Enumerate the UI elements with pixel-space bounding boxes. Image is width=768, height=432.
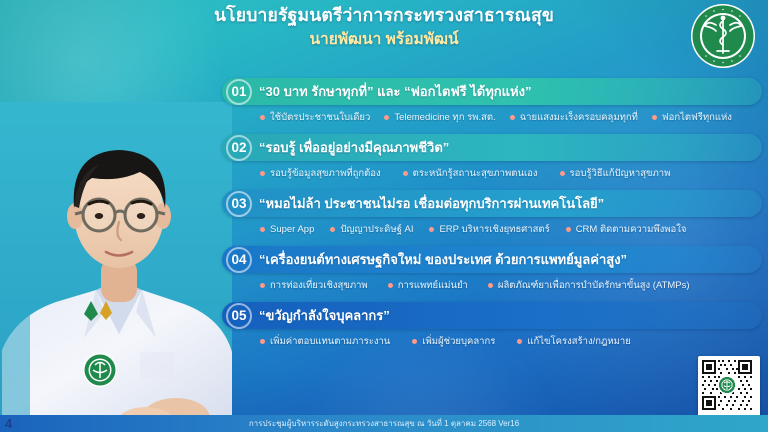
policy-item-01[interactable]: 01 “30 บาท รักษาทุกที่” และ “ฟอกไตฟรี ได… xyxy=(222,78,768,127)
bullet-dot-icon xyxy=(652,115,657,120)
policy-pill-05[interactable]: 05 “ขวัญกำลังใจบุคลากร” xyxy=(222,302,762,329)
subitem-label: CRM ติดตามความพึงพอใจ xyxy=(576,222,687,237)
page-number: 4 xyxy=(5,416,12,431)
footer-bar: การประชุมผู้บริหารระดับสูงกระทรวงสาธารณส… xyxy=(0,415,768,432)
list-item[interactable]: การแพทย์แม่นยำ xyxy=(388,278,468,293)
bullet-dot-icon xyxy=(412,339,417,344)
list-item[interactable]: ผลิตภัณฑ์ยาเพื่อการบำบัดรักษาขั้นสูง (AT… xyxy=(488,278,690,293)
policy-number-03: 03 xyxy=(226,191,252,217)
policy-pill-02[interactable]: 02 “รอบรู้ เพื่ออยู่อย่างมีคุณภาพชีวิต” xyxy=(222,134,762,161)
subitem-label: ERP บริหารเชิงยุทธศาสตร์ xyxy=(439,222,549,237)
list-item[interactable]: เพิ่มค่าตอบแทนตามภาระงาน xyxy=(260,334,390,349)
subitem-label: Telemedicine ทุก รพ.สต. xyxy=(394,110,495,125)
page-title: นโยบายรัฐมนตรีว่าการกระทรวงสาธารณสุข xyxy=(0,4,768,28)
slide-canvas: นโยบายรัฐมนตรีว่าการกระทรวงสาธารณสุข นาย… xyxy=(0,0,768,432)
subitem-label: ผลิตภัณฑ์ยาเพื่อการบำบัดรักษาขั้นสูง (AT… xyxy=(498,278,690,293)
subitem-label: รอบรู้ข้อมูลสุขภาพที่ถูกต้อง xyxy=(270,166,381,181)
list-item[interactable]: Telemedicine ทุก รพ.สต. xyxy=(384,110,495,125)
policy-number-01: 01 xyxy=(226,79,252,105)
subitem-label: เพิ่มค่าตอบแทนตามภาระงาน xyxy=(270,334,390,349)
bullet-dot-icon xyxy=(260,227,265,232)
policy-number-05: 05 xyxy=(226,303,252,329)
bullet-dot-icon xyxy=(566,227,571,232)
list-item[interactable]: ฟอกไตฟรีทุกแห่ง xyxy=(652,110,732,125)
subitem-label: Super App xyxy=(270,224,314,235)
policy-title-03: “หมอไม่ล้า ประชาชนไม่รอ เชื่อมต่อทุกบริก… xyxy=(259,193,604,214)
subitem-label: ใช้บัตรประชาชนใบเดียว xyxy=(270,110,370,125)
subitem-label: ปัญญาประดิษฐ์ AI xyxy=(340,222,413,237)
bullet-dot-icon xyxy=(560,171,565,176)
policy-number-04: 04 xyxy=(226,247,252,273)
bullet-dot-icon xyxy=(384,115,389,120)
subitem-label: การท่องเที่ยวเชิงสุขภาพ xyxy=(270,278,368,293)
list-item[interactable]: ตระหนักรู้สถานะสุขภาพตนเอง xyxy=(403,166,538,181)
list-item[interactable]: Super App xyxy=(260,224,314,235)
bullet-dot-icon xyxy=(488,283,493,288)
policy-title-02: “รอบรู้ เพื่ออยู่อย่างมีคุณภาพชีวิต” xyxy=(259,137,449,158)
list-item[interactable]: ปัญญาประดิษฐ์ AI xyxy=(330,222,413,237)
policy-title-05: “ขวัญกำลังใจบุคลากร” xyxy=(259,305,390,326)
bullet-dot-icon xyxy=(260,115,265,120)
bullet-dot-icon xyxy=(517,339,522,344)
subitem-label: ฉายแสงมะเร็งครอบคลุมทุกที่ xyxy=(520,110,638,125)
subitem-label: แก้ไขโครงสร้าง/กฎหมาย xyxy=(527,334,630,349)
subitem-label: รอบรู้วิธีแก้ปัญหาสุขภาพ xyxy=(570,166,671,181)
policy-list: 01 “30 บาท รักษาทุกที่” และ “ฟอกไตฟรี ได… xyxy=(222,78,768,358)
header: นโยบายรัฐมนตรีว่าการกระทรวงสาธารณสุข นาย… xyxy=(0,4,768,51)
policy-subitems-01: ใช้บัตรประชาชนใบเดียว Telemedicine ทุก ร… xyxy=(222,105,768,127)
policy-number-02: 02 xyxy=(226,135,252,161)
bullet-dot-icon xyxy=(403,171,408,176)
minister-portrait xyxy=(0,102,232,432)
policy-title-01: “30 บาท รักษาทุกที่” และ “ฟอกไตฟรี ได้ทุ… xyxy=(259,81,531,102)
policy-item-03[interactable]: 03 “หมอไม่ล้า ประชาชนไม่รอ เชื่อมต่อทุกบ… xyxy=(222,190,768,239)
footer-caption: การประชุมผู้บริหารระดับสูงกระทรวงสาธารณส… xyxy=(0,415,768,432)
bullet-dot-icon xyxy=(330,227,335,232)
policy-item-05[interactable]: 05 “ขวัญกำลังใจบุคลากร” เพิ่มค่าตอบแทนตา… xyxy=(222,302,768,351)
list-item[interactable]: รอบรู้ข้อมูลสุขภาพที่ถูกต้อง xyxy=(260,166,381,181)
policy-item-02[interactable]: 02 “รอบรู้ เพื่ออยู่อย่างมีคุณภาพชีวิต” … xyxy=(222,134,768,183)
list-item[interactable]: CRM ติดตามความพึงพอใจ xyxy=(566,222,687,237)
policy-pill-01[interactable]: 01 “30 บาท รักษาทุกที่” และ “ฟอกไตฟรี ได… xyxy=(222,78,762,105)
bullet-dot-icon xyxy=(260,171,265,176)
bullet-dot-icon xyxy=(260,339,265,344)
bullet-dot-icon xyxy=(429,227,434,232)
policy-subitems-03: Super App ปัญญาประดิษฐ์ AI ERP บริหารเชิ… xyxy=(222,217,768,239)
list-item[interactable]: การท่องเที่ยวเชิงสุขภาพ xyxy=(260,278,368,293)
list-item[interactable]: เพิ่มผู้ช่วยบุคลากร xyxy=(412,334,495,349)
policy-pill-04[interactable]: 04 “เครื่องยนต์ทางเศรษฐกิจใหม่ ของประเทศ… xyxy=(222,246,762,273)
subitem-label: ตระหนักรู้สถานะสุขภาพตนเอง xyxy=(413,166,538,181)
policy-subitems-04: การท่องเที่ยวเชิงสุขภาพ การแพทย์แม่นยำ ผ… xyxy=(222,273,768,295)
list-item[interactable]: แก้ไขโครงสร้าง/กฎหมาย xyxy=(517,334,630,349)
policy-pill-03[interactable]: 03 “หมอไม่ล้า ประชาชนไม่รอ เชื่อมต่อทุกบ… xyxy=(222,190,762,217)
list-item[interactable]: รอบรู้วิธีแก้ปัญหาสุขภาพ xyxy=(560,166,671,181)
list-item[interactable]: ฉายแสงมะเร็งครอบคลุมทุกที่ xyxy=(510,110,638,125)
qr-code[interactable] xyxy=(698,356,760,418)
minister-name: นายพัฒนา พร้อมพัฒน์ xyxy=(0,30,768,51)
ministry-of-public-health-logo-icon xyxy=(690,3,756,69)
policy-item-04[interactable]: 04 “เครื่องยนต์ทางเศรษฐกิจใหม่ ของประเทศ… xyxy=(222,246,768,295)
bullet-dot-icon xyxy=(260,283,265,288)
list-item[interactable]: ERP บริหารเชิงยุทธศาสตร์ xyxy=(429,222,549,237)
subitem-label: การแพทย์แม่นยำ xyxy=(398,278,468,293)
policy-title-04: “เครื่องยนต์ทางเศรษฐกิจใหม่ ของประเทศ ด้… xyxy=(259,249,627,270)
bullet-dot-icon xyxy=(388,283,393,288)
subitem-label: ฟอกไตฟรีทุกแห่ง xyxy=(662,110,732,125)
bullet-dot-icon xyxy=(510,115,515,120)
list-item[interactable]: ใช้บัตรประชาชนใบเดียว xyxy=(260,110,370,125)
policy-subitems-02: รอบรู้ข้อมูลสุขภาพที่ถูกต้อง ตระหนักรู้ส… xyxy=(222,161,768,183)
subitem-label: เพิ่มผู้ช่วยบุคลากร xyxy=(422,334,495,349)
policy-subitems-05: เพิ่มค่าตอบแทนตามภาระงาน เพิ่มผู้ช่วยบุค… xyxy=(222,329,768,351)
